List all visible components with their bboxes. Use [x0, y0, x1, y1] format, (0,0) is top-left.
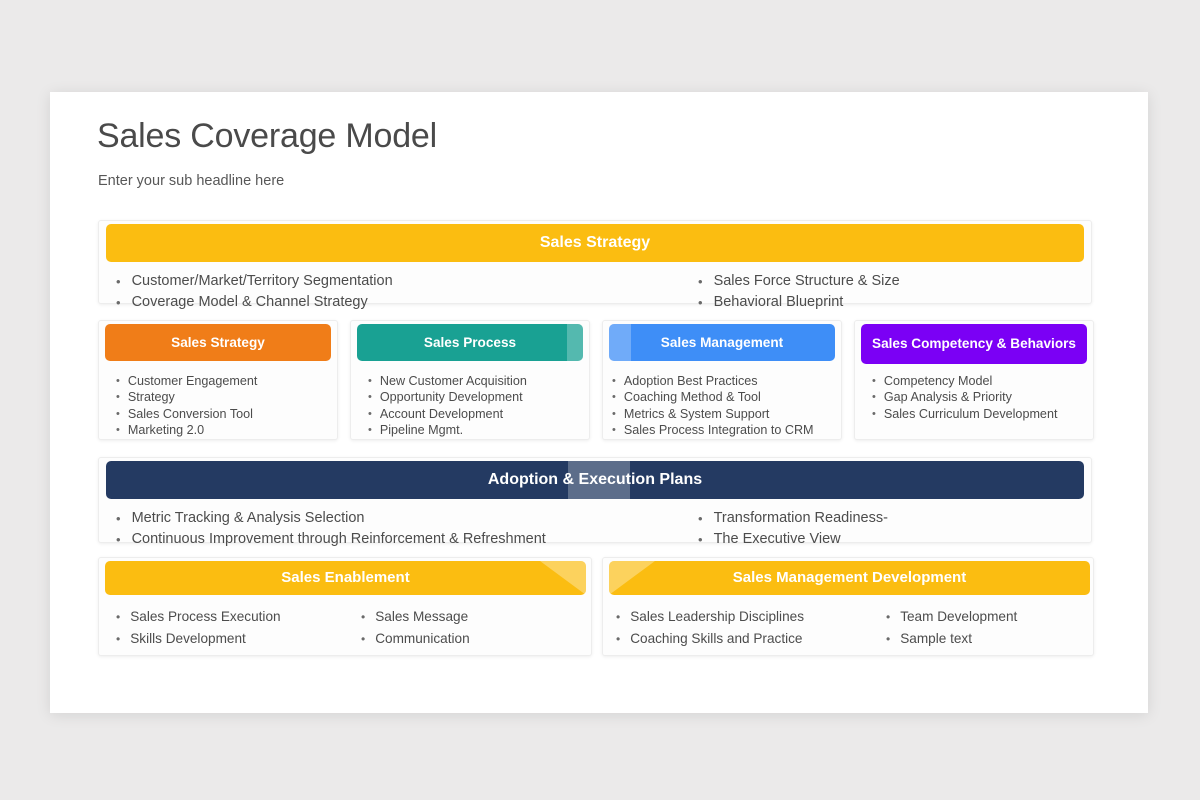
column-header-sales-process[interactable]: Sales Process — [357, 324, 583, 361]
list-item: • The Executive View — [698, 530, 1078, 549]
bullet-icon: • — [368, 406, 372, 422]
list-item: •Coaching Method & Tool — [612, 389, 834, 405]
bullet-icon: • — [616, 629, 620, 649]
column-bullets-sales-competency: •Competency Model •Gap Analysis & Priori… — [872, 373, 1090, 422]
page-title: Sales Coverage Model — [97, 117, 437, 156]
list-item: •Pipeline Mgmt. — [368, 422, 586, 438]
bullet-icon: • — [886, 629, 890, 649]
bullet-icon: • — [116, 272, 121, 291]
bottom-header-label: Sales Enablement — [275, 569, 415, 586]
bottom-header-label: Sales Management Development — [727, 569, 972, 586]
bottom-bullets-smd-right: •Team Development •Sample text — [886, 607, 1091, 651]
bullet-icon: • — [116, 406, 120, 422]
column-header-label: Sales Management — [655, 335, 789, 351]
bullet-icon: • — [612, 373, 616, 389]
bottom-bullets-enablement-left: •Sales Process Execution •Skills Develop… — [116, 607, 366, 651]
column-header-label: Sales Strategy — [165, 335, 271, 351]
bullet-icon: • — [116, 607, 120, 627]
list-item: •Competency Model — [872, 373, 1090, 389]
column-header-label: Sales Competency & Behaviors — [866, 336, 1082, 352]
bullet-icon: • — [612, 406, 616, 422]
list-item: •Customer Engagement — [116, 373, 331, 389]
bullet-icon: • — [698, 509, 703, 528]
bullet-icon: • — [368, 373, 372, 389]
column-header-sales-strategy[interactable]: Sales Strategy — [105, 324, 331, 361]
mid-banner-bullets-right: • Transformation Readiness- • The Execut… — [698, 509, 1078, 551]
list-item: •Team Development — [886, 607, 1091, 627]
list-item: • Customer/Market/Territory Segmentation — [116, 272, 546, 291]
top-banner-header-label: Sales Strategy — [534, 234, 656, 252]
bullet-icon: • — [698, 272, 703, 291]
list-item: •Adoption Best Practices — [612, 373, 834, 389]
column-bullets-sales-process: •New Customer Acquisition •Opportunity D… — [368, 373, 586, 438]
bullet-icon: • — [361, 607, 365, 627]
bullet-icon: • — [361, 629, 365, 649]
bullet-icon: • — [116, 293, 121, 312]
list-item: •Coaching Skills and Practice — [616, 629, 891, 649]
list-item: •Account Development — [368, 406, 586, 422]
bullet-icon: • — [368, 422, 372, 438]
page-subtitle: Enter your sub headline here — [98, 173, 284, 189]
bottom-header-sales-enablement[interactable]: Sales Enablement — [105, 561, 586, 595]
bullet-icon: • — [116, 530, 121, 549]
list-item: • Sales Force Structure & Size — [698, 272, 1078, 291]
bullet-icon: • — [872, 373, 876, 389]
bottom-bullets-smd-left: •Sales Leadership Disciplines •Coaching … — [616, 607, 891, 651]
top-banner-header[interactable]: Sales Strategy — [106, 224, 1084, 262]
list-item: •Sales Message — [361, 607, 586, 627]
bullet-icon: • — [116, 422, 120, 438]
top-banner-bullets-right: • Sales Force Structure & Size • Behavio… — [698, 272, 1078, 314]
list-item: • Behavioral Blueprint — [698, 293, 1078, 312]
bullet-icon: • — [698, 293, 703, 312]
bottom-bullets-enablement-right: •Sales Message •Communication — [361, 607, 586, 651]
bullet-icon: • — [116, 373, 120, 389]
list-item: •Marketing 2.0 — [116, 422, 331, 438]
bullet-icon: • — [368, 389, 372, 405]
list-item: •Strategy — [116, 389, 331, 405]
corner-fold-icon — [609, 561, 655, 595]
bullet-icon: • — [886, 607, 890, 627]
mid-banner-header-label: Adoption & Execution Plans — [482, 471, 708, 489]
mid-banner-header[interactable]: Adoption & Execution Plans — [106, 461, 1084, 499]
list-item: •Opportunity Development — [368, 389, 586, 405]
list-item: • Transformation Readiness- — [698, 509, 1078, 528]
column-bullets-sales-strategy: •Customer Engagement •Strategy •Sales Co… — [116, 373, 331, 438]
bullet-icon: • — [698, 530, 703, 549]
bullet-icon: • — [612, 422, 616, 438]
list-item: • Metric Tracking & Analysis Selection — [116, 509, 676, 528]
list-item: •Sales Conversion Tool — [116, 406, 331, 422]
list-item: •Metrics & System Support — [612, 406, 834, 422]
bullet-icon: • — [872, 406, 876, 422]
header-highlight-band — [567, 324, 583, 361]
column-header-sales-competency[interactable]: Sales Competency & Behaviors — [861, 324, 1087, 364]
corner-fold-icon — [540, 561, 586, 595]
list-item: •Sales Leadership Disciplines — [616, 607, 891, 627]
top-banner-bullets-left: • Customer/Market/Territory Segmentation… — [116, 272, 546, 314]
list-item: •New Customer Acquisition — [368, 373, 586, 389]
list-item: • Coverage Model & Channel Strategy — [116, 293, 546, 312]
list-item: •Sales Process Integration to CRM — [612, 422, 834, 438]
bullet-icon: • — [872, 389, 876, 405]
bullet-icon: • — [116, 629, 120, 649]
mid-banner-bullets-left: • Metric Tracking & Analysis Selection •… — [116, 509, 676, 551]
list-item: •Sample text — [886, 629, 1091, 649]
column-header-label: Sales Process — [418, 335, 522, 351]
list-item: • Continuous Improvement through Reinfor… — [116, 530, 676, 549]
list-item: •Sales Process Execution — [116, 607, 366, 627]
bullet-icon: • — [616, 607, 620, 627]
bottom-header-sales-management-development[interactable]: Sales Management Development — [609, 561, 1090, 595]
bullet-icon: • — [116, 389, 120, 405]
slide-canvas: Sales Coverage Model Enter your sub head… — [50, 92, 1148, 713]
column-bullets-sales-management: •Adoption Best Practices •Coaching Metho… — [612, 373, 834, 438]
bullet-icon: • — [612, 389, 616, 405]
list-item: •Gap Analysis & Priority — [872, 389, 1090, 405]
list-item: •Skills Development — [116, 629, 366, 649]
header-highlight-band — [609, 324, 631, 361]
list-item: •Sales Curriculum Development — [872, 406, 1090, 422]
bullet-icon: • — [116, 509, 121, 528]
list-item: •Communication — [361, 629, 586, 649]
column-header-sales-management[interactable]: Sales Management — [609, 324, 835, 361]
